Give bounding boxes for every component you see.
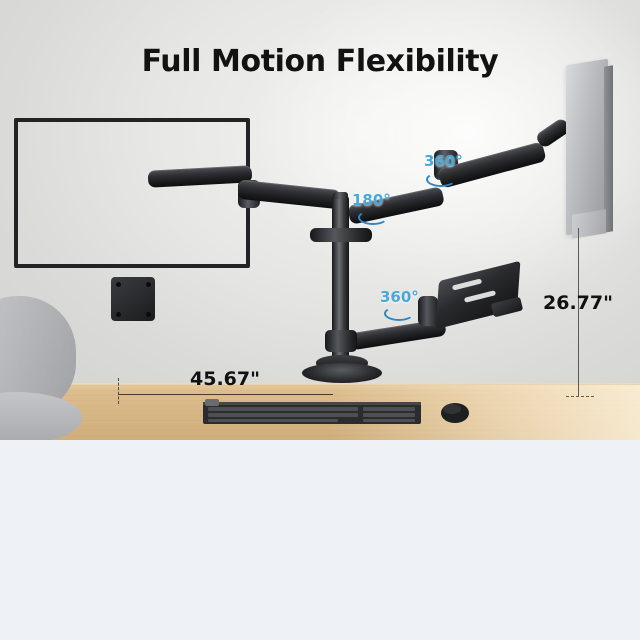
- keyboard: [203, 399, 423, 427]
- mount-lower-collar: [325, 330, 357, 352]
- dimension-line-horizontal: [118, 394, 333, 395]
- dimension-label-height: 26.77": [543, 292, 613, 314]
- mount-desk-base: [302, 363, 382, 383]
- silver-monitor-side-edge: [604, 65, 613, 232]
- rotation-arrow-tray-icon: [384, 306, 414, 321]
- silver-monitor-portrait: [566, 59, 608, 236]
- product-feature-image: Full Motion Flexibility: [0, 0, 640, 640]
- mount-joint-lower: [418, 296, 438, 326]
- callout-360-upper: 360°: [424, 152, 463, 170]
- dimension-tick-left: [118, 378, 119, 404]
- feature-panels-section: ±90° Swivel: [0, 440, 640, 640]
- dimension-tick-bottom: [566, 396, 594, 397]
- mount-pole-cap: [333, 192, 348, 199]
- vesa-mount-plate: [111, 277, 155, 321]
- rotation-arrow-pole-icon: [358, 210, 388, 225]
- rotation-arrow-upper-icon: [426, 172, 456, 187]
- dimension-label-width: 45.67": [190, 368, 260, 390]
- callout-360-tray: 360°: [380, 288, 419, 306]
- computer-mouse: [440, 400, 470, 424]
- page-title: Full Motion Flexibility: [0, 44, 640, 79]
- mount-upper-collar: [310, 228, 372, 242]
- hero-scene: Full Motion Flexibility: [0, 0, 640, 440]
- ghost-monitor-outline: [14, 118, 250, 268]
- callout-180-pole: 180°: [352, 191, 391, 209]
